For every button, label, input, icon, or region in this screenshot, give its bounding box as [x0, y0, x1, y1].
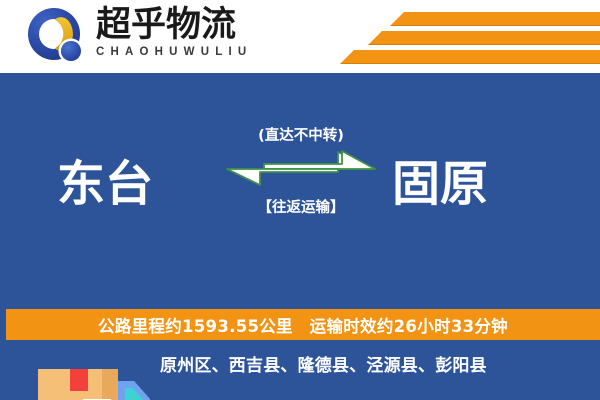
origin-city: 东台 — [57, 158, 153, 210]
header-stripe-3 — [340, 50, 600, 64]
header-stripe-2 — [368, 31, 600, 45]
brand-block: 超乎物流 CHAOHUWULIU — [96, 6, 296, 58]
coverage-districts: 原州区、西吉县、隆德县、泾源县、彭阳县 — [160, 351, 487, 376]
logo-accent-dot-icon — [61, 41, 81, 61]
company-logo-icon — [28, 8, 88, 66]
header-stripe-1 — [390, 12, 600, 26]
double-headed-arrow-icon — [224, 148, 378, 192]
route-info-bar: 公路里程约1593.55公里 运输时效约26小时33分钟 — [6, 309, 600, 340]
route-note-roundtrip: 【往返运输】 — [222, 196, 380, 217]
destination-city: 固原 — [392, 158, 488, 210]
main-panel: 东台 (直达不中转) 【往返运输】 固原 公路里程约1593.55公里 运输时效… — [0, 73, 600, 400]
route-note-direct: (直达不中转) — [222, 124, 380, 145]
logistics-route-banner: 超乎物流 CHAOHUWULIU 东台 (直达不中转) — [0, 0, 600, 400]
brand-name-en: CHAOHUWULIU — [96, 46, 296, 58]
route-row: 东台 (直达不中转) 【往返运输】 固原 — [0, 118, 600, 238]
route-info-text: 公路里程约1593.55公里 运输时效约26小时33分钟 — [98, 313, 508, 337]
delivery-truck-icon — [30, 351, 160, 400]
header: 超乎物流 CHAOHUWULIU — [0, 0, 600, 73]
brand-name-cn: 超乎物流 — [96, 6, 296, 44]
route-arrow-group: (直达不中转) 【往返运输】 — [222, 118, 380, 238]
